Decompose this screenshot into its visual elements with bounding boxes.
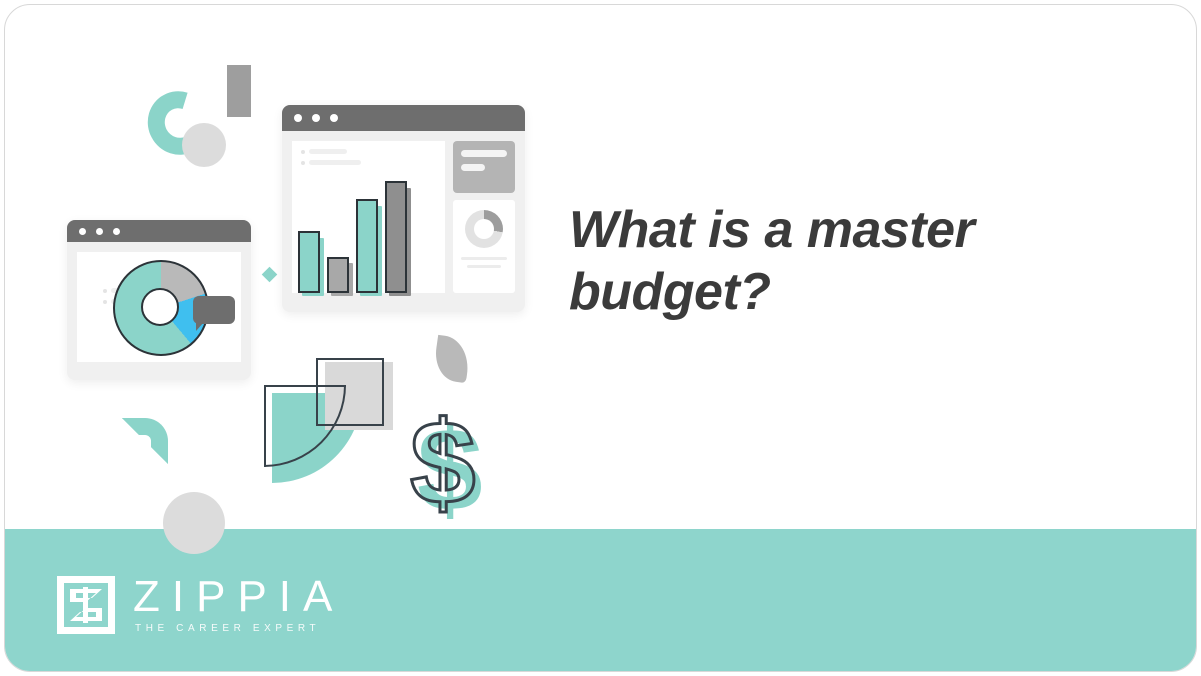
chart-tooltip bbox=[193, 296, 235, 324]
bar-teal-1 bbox=[298, 231, 320, 293]
bar-slot bbox=[356, 199, 378, 293]
legend-dot-icon bbox=[301, 161, 305, 165]
donut-window-body bbox=[67, 242, 251, 372]
teal-diamond-icon bbox=[262, 267, 278, 283]
dashboard-side-panel bbox=[453, 141, 515, 293]
window-dot-icon bbox=[113, 228, 120, 235]
logo-text: ZIPPIA THE CAREER EXPERT bbox=[133, 575, 344, 634]
dashboard-window-title-bar bbox=[282, 105, 525, 131]
page-title: What is a master budget? bbox=[569, 199, 1089, 323]
gray-circle-icon bbox=[182, 123, 226, 167]
bar-slot bbox=[327, 257, 349, 293]
donut-card bbox=[453, 200, 515, 293]
legend-dot-icon bbox=[103, 300, 107, 304]
legend-item bbox=[301, 149, 361, 154]
text-line-placeholder bbox=[461, 257, 507, 260]
teal-quarter-arc-icon bbox=[122, 418, 168, 464]
bar-teal-3 bbox=[356, 199, 378, 293]
legend-label-placeholder bbox=[309, 149, 347, 154]
slide-card: $ $ bbox=[4, 4, 1197, 672]
dashboard-window bbox=[282, 105, 525, 312]
dollar-sign-icon: $ $ bbox=[410, 407, 506, 519]
bar-chart-bars bbox=[298, 169, 416, 293]
gray-circle-bottom-icon bbox=[163, 492, 225, 554]
donut-window-title-bar bbox=[67, 220, 251, 242]
dashboard-window-body bbox=[282, 131, 525, 303]
summary-card bbox=[453, 141, 515, 193]
summary-line bbox=[461, 150, 507, 157]
summary-line bbox=[461, 164, 485, 171]
window-dot-icon bbox=[330, 114, 338, 122]
bar-slot bbox=[385, 181, 407, 293]
bar-slot bbox=[298, 231, 320, 293]
slide-canvas: $ $ bbox=[0, 0, 1201, 676]
dashboard-content bbox=[292, 141, 515, 293]
legend-item bbox=[301, 160, 361, 165]
bar-gray-2 bbox=[327, 257, 349, 293]
zippia-z-mark-icon bbox=[57, 576, 115, 634]
bar-chart-legend bbox=[301, 149, 361, 171]
donut-window bbox=[67, 220, 251, 380]
progress-donut-chart bbox=[465, 210, 503, 248]
window-dot-icon bbox=[96, 228, 103, 235]
text-line-placeholder bbox=[467, 265, 500, 268]
window-dot-icon bbox=[79, 228, 86, 235]
gray-rectangle-icon bbox=[227, 65, 251, 117]
legend-dot-icon bbox=[103, 289, 107, 293]
bar-gray-4 bbox=[385, 181, 407, 293]
legend-dot-icon bbox=[301, 150, 305, 154]
logo-tagline: THE CAREER EXPERT bbox=[135, 623, 344, 634]
zippia-logo[interactable]: ZIPPIA THE CAREER EXPERT bbox=[57, 575, 344, 634]
donut-chart-panel bbox=[77, 252, 241, 362]
dollar-sign-outline: $ bbox=[410, 407, 476, 519]
gray-petal-icon bbox=[432, 335, 472, 383]
bar-chart-panel bbox=[292, 141, 445, 293]
window-dot-icon bbox=[294, 114, 302, 122]
window-dot-icon bbox=[312, 114, 320, 122]
legend-label-placeholder bbox=[309, 160, 361, 165]
logo-wordmark: ZIPPIA bbox=[133, 575, 344, 619]
